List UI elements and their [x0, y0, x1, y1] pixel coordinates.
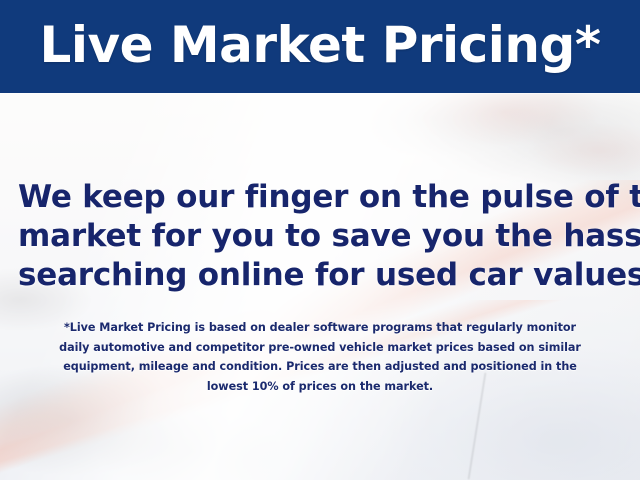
live-market-pricing-banner: Live Market Pricing* We keep our finger … [0, 0, 640, 480]
page-title: Live Market Pricing* [40, 20, 601, 74]
header-band: Live Market Pricing* [0, 0, 640, 93]
disclaimer-line-4: lowest 10% of prices on the market. [28, 377, 612, 397]
statement-line-3: searching online for used car values. [18, 256, 622, 295]
statement-line-2: market for you to save you the hassle of [18, 217, 622, 256]
disclaimer-text: *Live Market Pricing is based on dealer … [28, 318, 612, 396]
disclaimer-line-2: daily automotive and competitor pre-owne… [28, 338, 612, 358]
statement-line-1: We keep our finger on the pulse of the [18, 178, 622, 217]
disclaimer-line-3: equipment, mileage and condition. Prices… [28, 357, 612, 377]
disclaimer-line-1: *Live Market Pricing is based on dealer … [28, 318, 612, 338]
main-statement: We keep our finger on the pulse of the m… [18, 178, 622, 295]
